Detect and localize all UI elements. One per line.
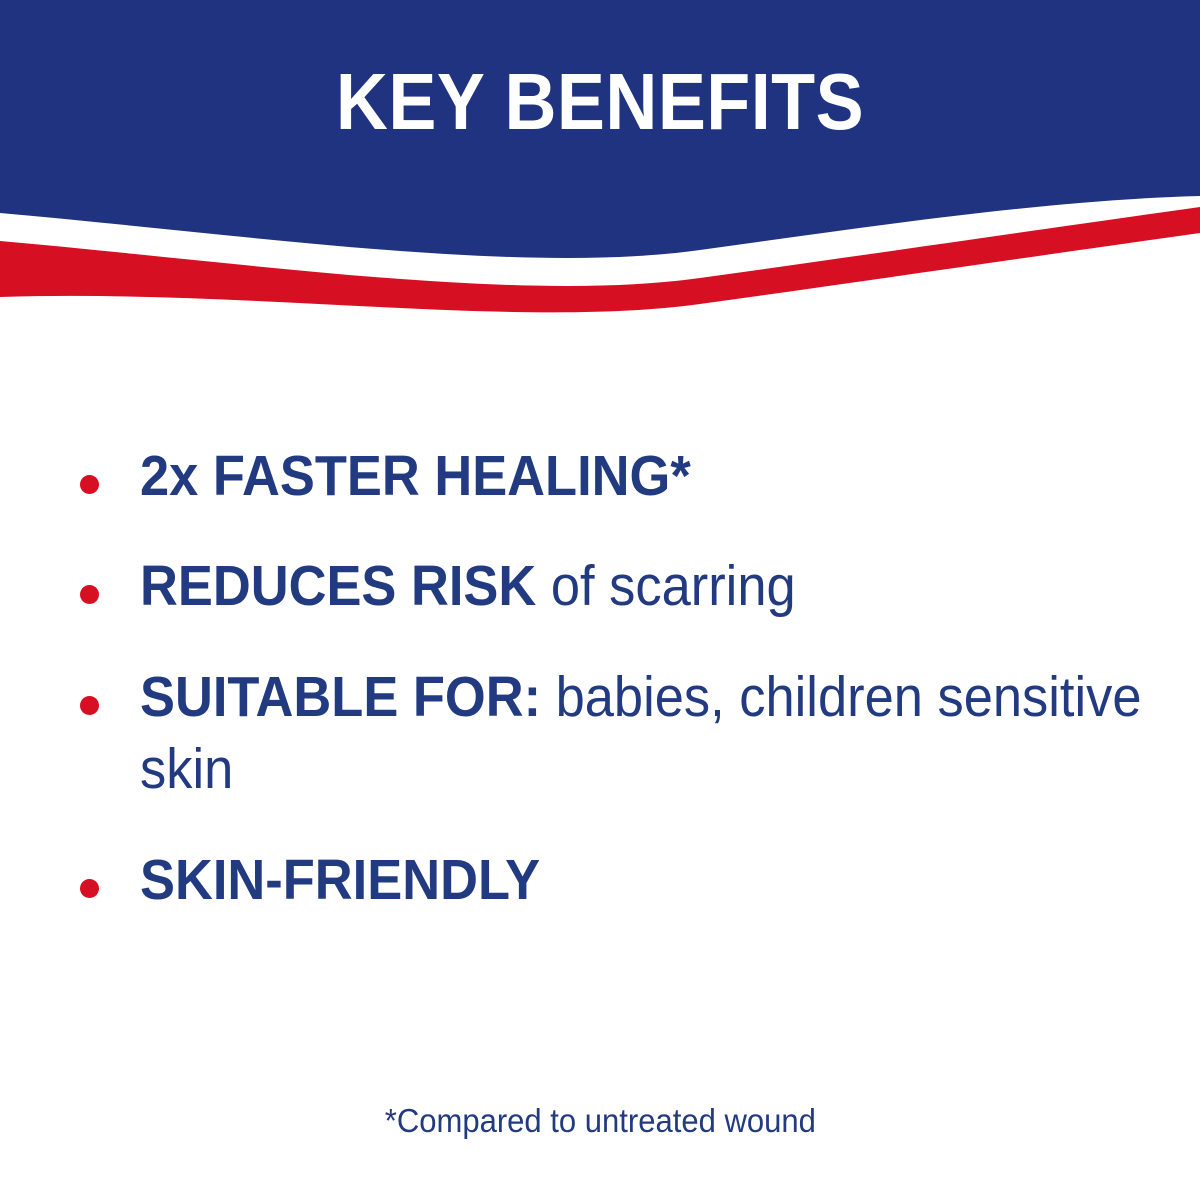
list-item: REDUCES RISK of scarring: [72, 550, 1142, 622]
benefit-text: SKIN-FRIENDLY: [140, 844, 1142, 916]
benefit-text: SUITABLE FOR: babies, children sensitive…: [140, 661, 1142, 806]
benefit-headline: SUITABLE FOR:: [140, 665, 541, 729]
benefit-headline: SKIN-FRIENDLY: [140, 848, 540, 912]
benefit-headline: 2x FASTER HEALING*: [140, 444, 691, 508]
header-banner: KEY BENEFITS: [0, 0, 1200, 320]
benefit-text: REDUCES RISK of scarring: [140, 550, 1142, 622]
key-benefits-panel: KEY BENEFITS 2x FASTER HEALING* REDUCES …: [0, 0, 1200, 1200]
list-item: SUITABLE FOR: babies, children sensitive…: [72, 661, 1142, 806]
bullet-dot-icon: [80, 696, 99, 715]
header-swoosh-graphic: [0, 0, 1200, 320]
list-item: 2x FASTER HEALING*: [72, 440, 1142, 512]
bullet-dot-icon: [80, 475, 99, 494]
benefit-headline: REDUCES RISK: [140, 554, 536, 618]
page-title: KEY BENEFITS: [60, 62, 1140, 142]
benefit-detail: of scarring: [536, 554, 795, 618]
list-item: SKIN-FRIENDLY: [72, 844, 1142, 916]
benefits-list: 2x FASTER HEALING* REDUCES RISK of scarr…: [72, 440, 1142, 916]
footnote: *Compared to untreated wound: [0, 1101, 1200, 1141]
footnote-text: *Compared to untreated wound: [384, 1101, 815, 1141]
bullet-dot-icon: [80, 585, 99, 604]
benefit-text: 2x FASTER HEALING*: [140, 440, 1142, 512]
bullet-dot-icon: [80, 879, 99, 898]
